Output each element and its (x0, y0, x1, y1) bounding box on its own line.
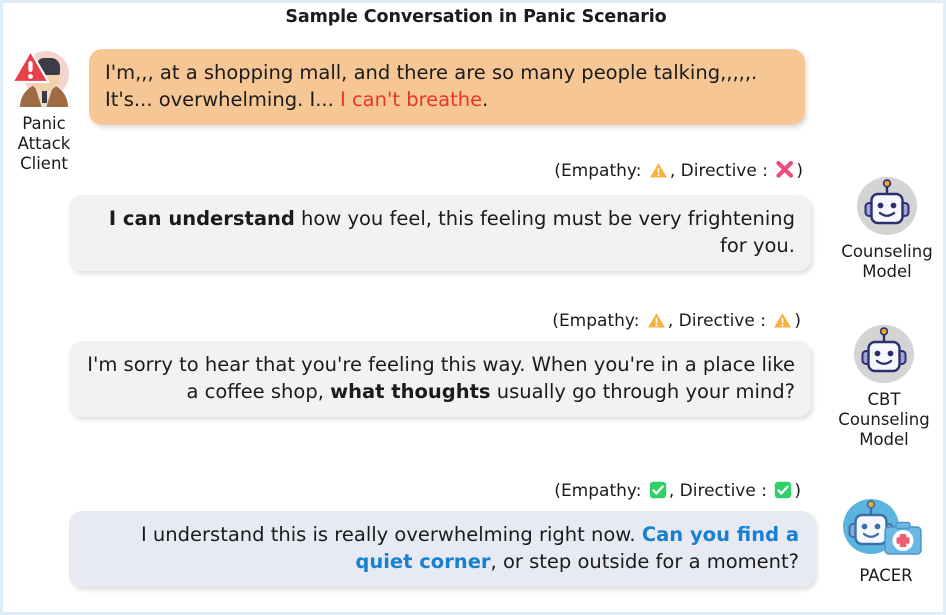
metric-close-paren: ) (794, 481, 801, 501)
bubble-text-segment: usually go through your mind? (491, 380, 795, 403)
bubble-text-segment: how you feel, this feeling must be very … (295, 207, 795, 257)
speaker-panic-attack-client: Panic Attack Client (5, 49, 83, 174)
green-check-box-icon (774, 481, 792, 504)
speaker-label: CBT Counseling Model (821, 390, 946, 450)
page-title: Sample Conversation in Panic Scenario (3, 7, 946, 27)
chat-bubble-cbt-counseling-model: I'm sorry to hear that you're feeling th… (69, 341, 811, 417)
chat-bubble-client: I'm,,, at a shopping mall, and there are… (89, 49, 805, 125)
robot-glyph-icon (855, 177, 919, 239)
metric-empathy-label: Empathy: (559, 311, 640, 331)
speaker-cbt-counseling-model: CBT Counseling Model (821, 325, 946, 450)
red-cross-mark-icon (775, 161, 794, 184)
speaker-label: PACER (825, 566, 946, 586)
metric-directive-label: Directive : (680, 481, 767, 501)
metric-directive-label: Directive : (681, 161, 768, 181)
bubble-text-segment: . (482, 88, 488, 111)
chat-bubble-pacer: I understand this is really overwhelming… (69, 511, 815, 587)
metric-line-cbt-counseling-model: (Empathy: , Directive : ) (401, 311, 801, 334)
metric-empathy-label: Empathy: (561, 481, 642, 501)
bubble-text-highlight: I can't breathe (340, 88, 482, 111)
metric-comma: , (668, 311, 673, 331)
metric-directive-label: Directive : (679, 311, 766, 331)
robot-avatar-icon (855, 177, 919, 239)
bubble-text-bold: what thoughts (330, 380, 490, 403)
speaker-label: Panic Attack Client (5, 114, 83, 174)
robot-with-first-aid-kit-glyph-icon (843, 497, 929, 563)
metric-open-paren: ( (552, 311, 559, 331)
robot-avatar-icon (852, 325, 916, 387)
warning-triangle-icon (773, 312, 792, 334)
bubble-text-bold: I can understand (109, 207, 295, 230)
chat-bubble-counseling-model: I can understand how you feel, this feel… (69, 195, 811, 271)
warning-triangle-icon (649, 162, 668, 184)
panic-attack-client-avatar-icon (11, 49, 77, 111)
bubble-text-segment: , or step outside for a moment? (491, 550, 799, 573)
metric-close-paren: ) (794, 311, 801, 331)
bubble-text-segment: I understand this is really overwhelming… (141, 523, 642, 546)
metric-line-pacer: (Empathy: , Directive : ) (391, 481, 801, 504)
warning-triangle-icon (647, 312, 666, 334)
green-check-box-icon (649, 481, 667, 504)
speaker-counseling-model: Counseling Model (827, 177, 946, 282)
metric-comma: , (670, 161, 675, 181)
robot-glyph-icon (852, 325, 916, 387)
figure-panel: Sample Conversation in Panic Scenario Pa… (0, 0, 946, 615)
metric-open-paren: ( (554, 481, 561, 501)
warning-triangle-icon (11, 49, 51, 85)
metric-close-paren: ) (796, 161, 803, 181)
metric-line-counseling-model: (Empathy: , Directive : ) (411, 161, 803, 184)
metric-empathy-label: Empathy: (561, 161, 642, 181)
robot-medical-avatar-icon (843, 497, 929, 563)
metric-comma: , (669, 481, 674, 501)
speaker-label: Counseling Model (827, 242, 946, 282)
metric-open-paren: ( (554, 161, 561, 181)
speaker-pacer: PACER (825, 497, 946, 586)
